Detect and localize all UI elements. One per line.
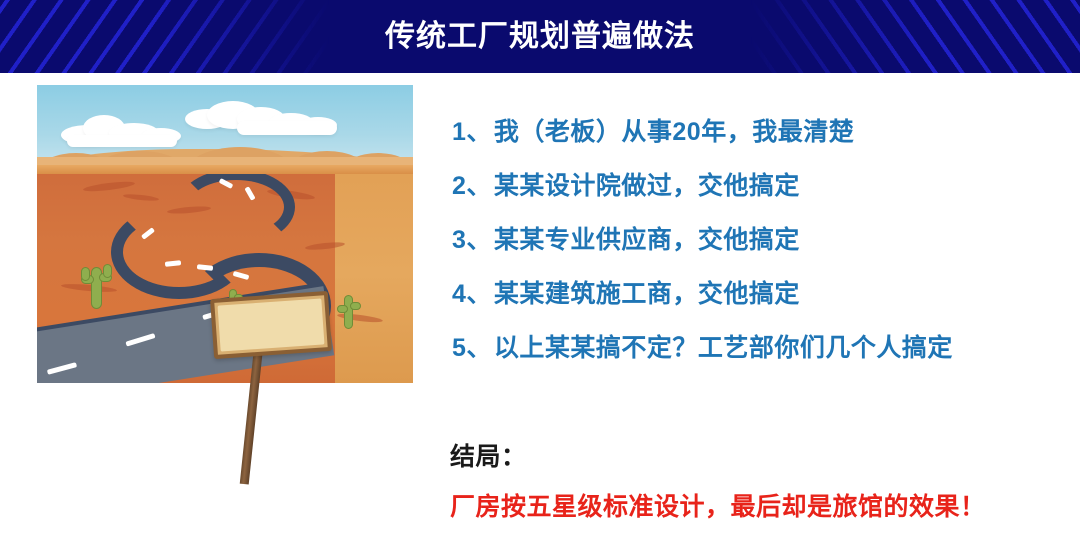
list-item: 5、 以上某某搞不定？工艺部你们几个人搞定 xyxy=(452,328,1062,382)
sand-streak-decoration xyxy=(123,193,159,202)
list-item-label: 我（老板）从事20年，我最清楚 xyxy=(494,112,854,148)
cactus-icon xyxy=(337,293,359,327)
signpost-board-face xyxy=(218,298,325,351)
cactus-arm-left-up xyxy=(81,267,90,281)
header-banner: 传统工厂规划普遍做法 xyxy=(0,0,1080,73)
signpost-board xyxy=(210,291,332,359)
road-dash xyxy=(125,333,155,347)
list-item-index: 2、 xyxy=(452,166,492,202)
conclusion-block: 结局： 厂房按五星级标准设计，最后却是旅馆的效果！ xyxy=(450,437,1070,523)
practice-list: 1、 我（老板）从事20年，我最清楚 2、 某某设计院做过，交他搞定 3、 某某… xyxy=(452,112,1062,382)
list-item-index: 1、 xyxy=(452,112,492,148)
list-item-label: 某某设计院做过，交他搞定 xyxy=(494,166,800,202)
conclusion-text: 厂房按五星级标准设计，最后却是旅馆的效果！ xyxy=(450,487,1070,523)
ground-right-band xyxy=(335,165,413,383)
list-item-index: 4、 xyxy=(452,274,492,310)
list-item: 3、 某某专业供应商，交他搞定 xyxy=(452,220,1062,274)
slide-root: 传统工厂规划普遍做法 xyxy=(0,0,1080,539)
cactus-arm-right xyxy=(350,302,361,310)
list-item-index: 5、 xyxy=(452,328,492,364)
list-item: 4、 某某建筑施工商，交他搞定 xyxy=(452,274,1062,328)
cloud-icon xyxy=(237,121,337,135)
cactus-icon xyxy=(79,263,111,307)
cactus-arm-right-up xyxy=(103,264,112,278)
ground-top-plank-edge xyxy=(37,165,413,174)
sand-streak-decoration xyxy=(83,180,135,193)
list-item-index: 3、 xyxy=(452,220,492,256)
list-item-label: 某某专业供应商，交他搞定 xyxy=(494,220,800,256)
list-item: 2、 某某设计院做过，交他搞定 xyxy=(452,166,1062,220)
list-item: 1、 我（老板）从事20年，我最清楚 xyxy=(452,112,1062,166)
list-item-label: 某某建筑施工商，交他搞定 xyxy=(494,274,800,310)
cloud-icon xyxy=(67,135,177,147)
cactus-arm-left xyxy=(337,305,348,313)
page-title: 传统工厂规划普遍做法 xyxy=(0,0,1080,73)
list-item-label: 以上某某搞不定？工艺部你们几个人搞定 xyxy=(494,328,953,364)
road-dash xyxy=(47,362,77,375)
conclusion-label: 结局： xyxy=(450,437,1070,473)
